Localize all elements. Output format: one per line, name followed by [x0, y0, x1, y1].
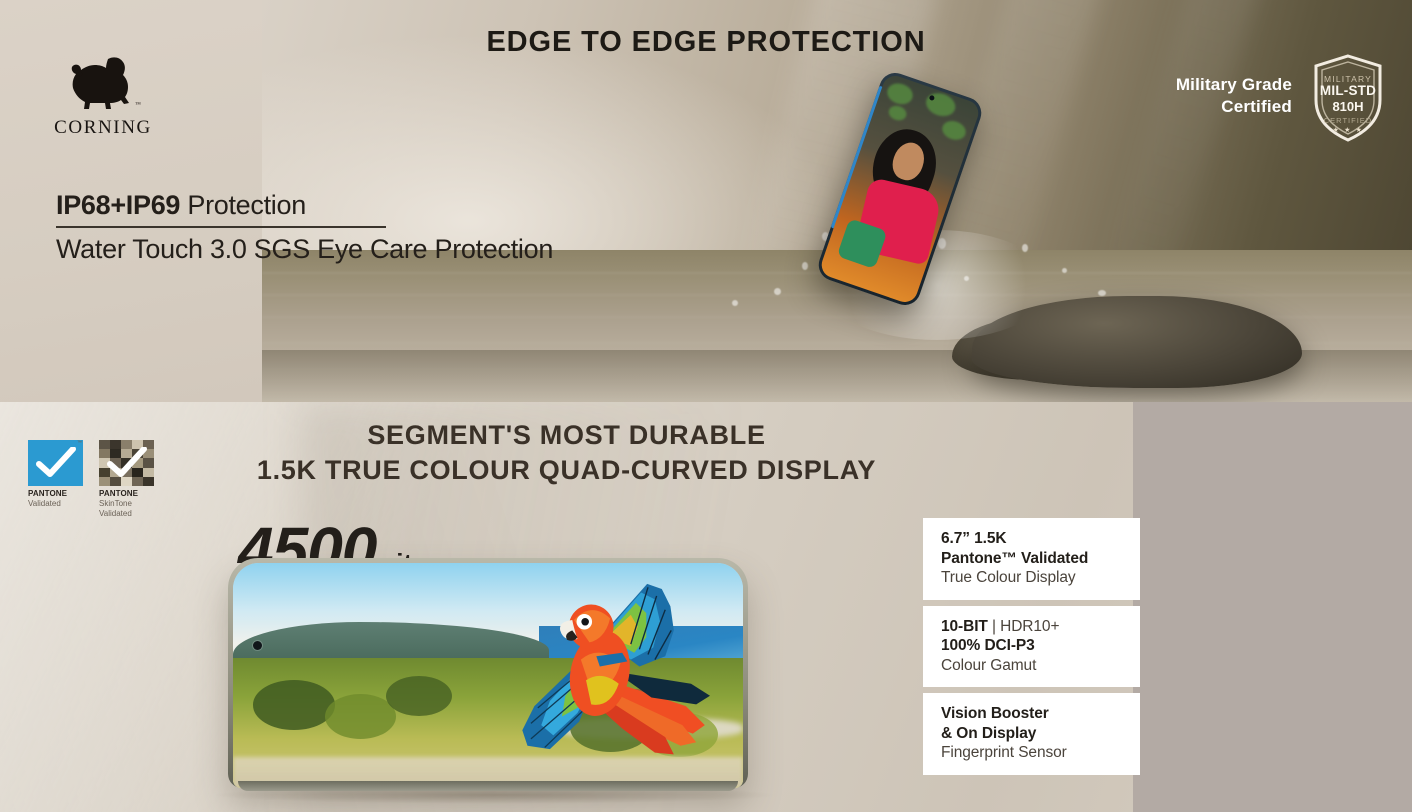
protection-claims: IP68+IP69 Protection Water Touch 3.0 SGS…	[56, 190, 646, 265]
pantone-validated-badge: ™ PANTONE Validated	[28, 440, 83, 519]
shield-text-milstd: MIL-STD	[1320, 83, 1376, 98]
card1-sub: True Colour Display	[941, 568, 1126, 588]
card-colour-gamut: 10-BIT | HDR10+ 100% DCI-P3 Colour Gamut	[923, 606, 1140, 688]
display-feature-cards: 6.7” 1.5K Pantone™ Validated True Colour…	[923, 518, 1140, 781]
card2-line2: 100% DCI-P3	[941, 636, 1126, 656]
macaw-bird-graphic	[457, 577, 743, 775]
checkmark-icon	[107, 447, 147, 479]
card3-line2: & On Display	[941, 724, 1126, 744]
phone-chin-edge	[238, 781, 738, 791]
claim-ip-rating: IP68+IP69 Protection	[56, 190, 646, 221]
military-grade-line2: Certified	[1176, 96, 1292, 118]
shield-text-certified: CERTIFIED	[1324, 116, 1372, 125]
svg-text:™: ™	[135, 102, 141, 108]
claim-water-touch: Water Touch 3.0 SGS Eye Care Protection	[56, 234, 646, 265]
shield-stars: ★ ★ ★	[1333, 126, 1364, 134]
military-grade-line1: Military Grade	[1176, 74, 1292, 96]
top-panel: EDGE TO EDGE PROTECTION ™ CORNING IP68+I…	[0, 0, 1412, 402]
product-feature-graphic: EDGE TO EDGE PROTECTION ™ CORNING IP68+I…	[0, 0, 1412, 812]
card3-line1: Vision Booster	[941, 704, 1126, 724]
card1-line2: Pantone™ Validated	[941, 549, 1126, 569]
page-title: EDGE TO EDGE PROTECTION	[0, 26, 1412, 59]
card-vision-booster: Vision Booster & On Display Fingerprint …	[923, 693, 1140, 775]
display-headline-line1: SEGMENT'S MOST DURABLE	[0, 420, 1133, 451]
card2-hdr: | HDR10+	[988, 618, 1060, 635]
card3-sub: Fingerprint Sensor	[941, 743, 1126, 763]
gorilla-icon: ™	[64, 56, 142, 114]
pantone-skintone-swatch: ™	[99, 440, 154, 486]
corning-wordmark: CORNING	[48, 117, 158, 139]
card-pantone-display: 6.7” 1.5K Pantone™ Validated True Colour…	[923, 518, 1140, 600]
trademark-mark: ™	[148, 440, 153, 446]
pantone-validated-swatch: ™	[28, 440, 83, 486]
dolby-panel-background	[1133, 402, 1412, 812]
phone-display-hero	[228, 558, 748, 788]
pantone-validated-sub: Validated	[28, 499, 83, 509]
mil-std-shield-badge-icon: MILITARY MIL-STD 810H CERTIFIED ★ ★ ★	[1312, 54, 1384, 142]
claim-ip-rating-bold: IP68+IP69	[56, 190, 180, 220]
display-headline: SEGMENT'S MOST DURABLE 1.5K TRUE COLOUR …	[0, 420, 1133, 486]
claim-water-touch-bold: Water Touch 3.0 SGS Eye Care	[56, 234, 427, 264]
military-grade-label: Military Grade Certified	[1176, 74, 1292, 119]
pantone-skintone-badge: ™ PANTONE SkinTone Validated	[99, 440, 154, 519]
pantone-badges: ™ PANTONE Validated ™	[28, 440, 154, 519]
checkmark-icon	[36, 447, 76, 479]
card2-bit-depth: 10-BIT	[941, 618, 988, 635]
pantone-skintone-sub2: Validated	[99, 509, 154, 519]
card1-line1: 6.7” 1.5K	[941, 529, 1126, 549]
pantone-skintone-sub1: SkinTone	[99, 499, 154, 509]
pantone-skintone-label: PANTONE	[99, 489, 154, 499]
corning-logo: ™ CORNING	[48, 56, 158, 139]
pantone-validated-label: PANTONE	[28, 489, 83, 499]
card2-sub: Colour Gamut	[941, 656, 1126, 676]
phone-screen-wallpaper	[233, 563, 743, 788]
front-camera-punch-hole	[253, 641, 262, 650]
claim-water-touch-regular: Protection	[434, 234, 553, 264]
shield-text-810h: 810H	[1332, 99, 1363, 114]
display-headline-line2: 1.5K TRUE COLOUR QUAD-CURVED DISPLAY	[0, 455, 1133, 486]
claim-ip-rating-regular: Protection	[187, 190, 306, 220]
claim-divider	[56, 226, 386, 228]
card2-line1: 10-BIT | HDR10+	[941, 617, 1126, 637]
trademark-mark: ™	[77, 440, 82, 446]
